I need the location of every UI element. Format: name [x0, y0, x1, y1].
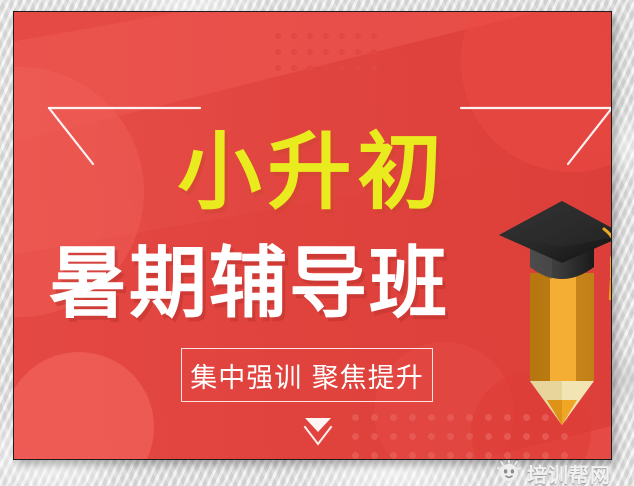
smiling-sun-face-icon	[497, 460, 521, 486]
pencil-with-graduation-cap-icon	[492, 195, 612, 449]
subtitle-text: 集中强训 聚焦提升	[190, 356, 424, 395]
decor-circle-bottom-left	[13, 352, 154, 460]
pencil-tip	[547, 400, 577, 425]
headline-secondary: 暑期辅导班	[14, 245, 484, 323]
promo-poster: 小升初 暑期辅导班 集中强训 聚焦提升	[13, 11, 612, 460]
watermark-text: 培训帮网	[527, 459, 611, 486]
headline-primary: 小升初	[14, 130, 611, 214]
pencil-graduation-svg	[492, 195, 612, 449]
dot-grid-top	[270, 28, 382, 76]
chevron-down-svg	[298, 414, 338, 450]
subtitle-box: 集中强训 聚焦提升	[181, 348, 433, 402]
chevron-down-icon[interactable]	[298, 414, 338, 450]
sun-face-svg	[497, 460, 521, 482]
pencil-shaft	[530, 273, 594, 381]
poster-canvas: 小升初 暑期辅导班 集中强训 聚焦提升	[0, 0, 634, 486]
site-watermark: 培训帮网	[497, 459, 611, 486]
